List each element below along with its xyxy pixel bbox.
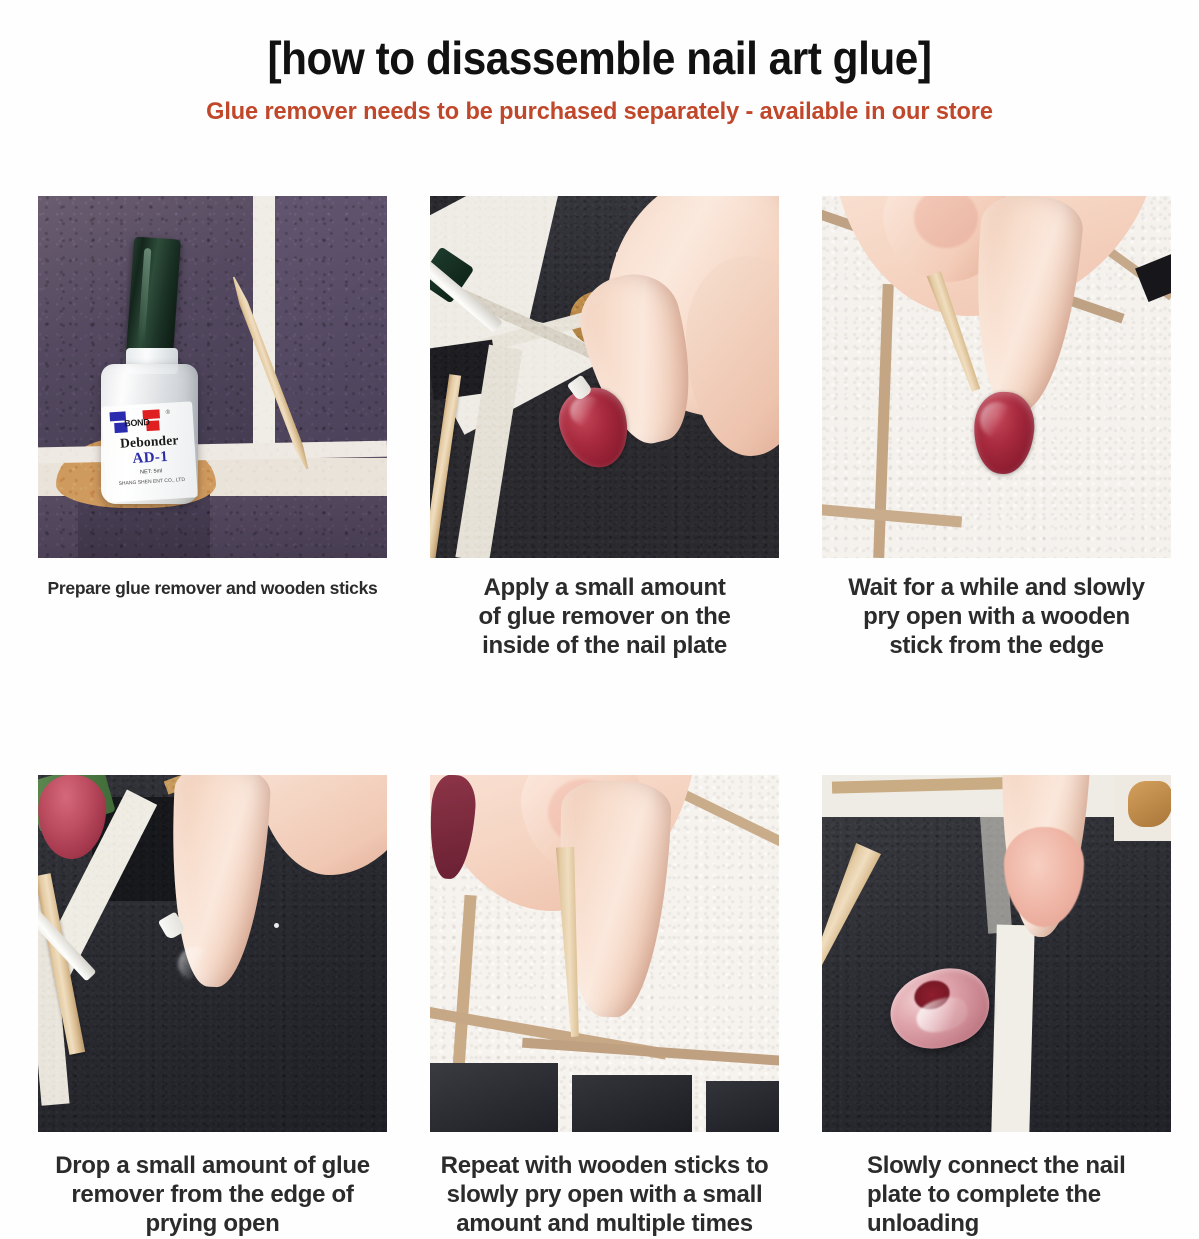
company-name: SHANG SHEN ENT CO., LTD	[108, 476, 196, 487]
step-card-6: Slowly connect the nail plate to complet…	[822, 775, 1171, 1238]
page-subtitle: Glue remover needs to be purchased separ…	[24, 98, 1175, 126]
photo-step-2-apply-remover	[430, 196, 779, 558]
steps-grid: BOND ® Debonder AD-1 NET: 5ml SHANG SHEN…	[38, 196, 1170, 1239]
step-card-1: BOND ® Debonder AD-1 NET: 5ml SHANG SHEN…	[38, 196, 387, 660]
step-caption-2: Apply a small amount of glue remover on …	[430, 574, 779, 660]
photo-step-1-prepare-supplies: BOND ® Debonder AD-1 NET: 5ml SHANG SHEN…	[38, 196, 387, 558]
step-caption-3: Wait for a while and slowly pry open wit…	[822, 574, 1171, 660]
step-card-4: Drop a small amount of glue remover from…	[38, 775, 387, 1238]
leather-grain-texture	[38, 196, 387, 558]
step-card-2: Apply a small amount of glue remover on …	[430, 196, 779, 660]
nail-highlight	[570, 396, 604, 426]
instruction-infographic: [how to disassemble nail art glue] Glue …	[0, 0, 1199, 1200]
photo-step-4-drop-at-edge	[38, 775, 387, 1132]
dark-patch-left	[430, 1063, 558, 1132]
step-caption-1: Prepare glue remover and wooden sticks	[38, 578, 387, 599]
step-caption-4: Drop a small amount of glue remover from…	[38, 1152, 387, 1238]
photo-step-5-repeat-prying	[430, 775, 779, 1132]
page-title: [how to disassemble nail art glue]	[48, 34, 1151, 82]
step-card-3: Wait for a while and slowly pry open wit…	[822, 196, 1171, 660]
white-stripe-vertical	[991, 925, 1035, 1132]
header: [how to disassemble nail art glue] Glue …	[0, 0, 1199, 126]
brand-logo-icon: BOND ®	[110, 408, 183, 434]
photo-step-3-pry-with-stick	[822, 196, 1171, 558]
photo-step-6-nail-removed	[822, 775, 1171, 1132]
brand-name: BOND	[124, 417, 150, 429]
nail-highlight	[980, 402, 1014, 438]
step-caption-5: Repeat with wooden sticks to slowly pry …	[430, 1152, 779, 1238]
step-caption-6: Slowly connect the nail plate to complet…	[822, 1152, 1171, 1238]
bottle-label: BOND ® Debonder AD-1 NET: 5ml SHANG SHEN…	[101, 401, 198, 502]
step-card-5: Repeat with wooden sticks to slowly pry …	[430, 775, 779, 1238]
dark-patch-center	[572, 1075, 692, 1132]
bottle-cap	[126, 237, 181, 358]
tan-patch-right	[1128, 781, 1171, 827]
dark-patch-right	[706, 1081, 779, 1132]
